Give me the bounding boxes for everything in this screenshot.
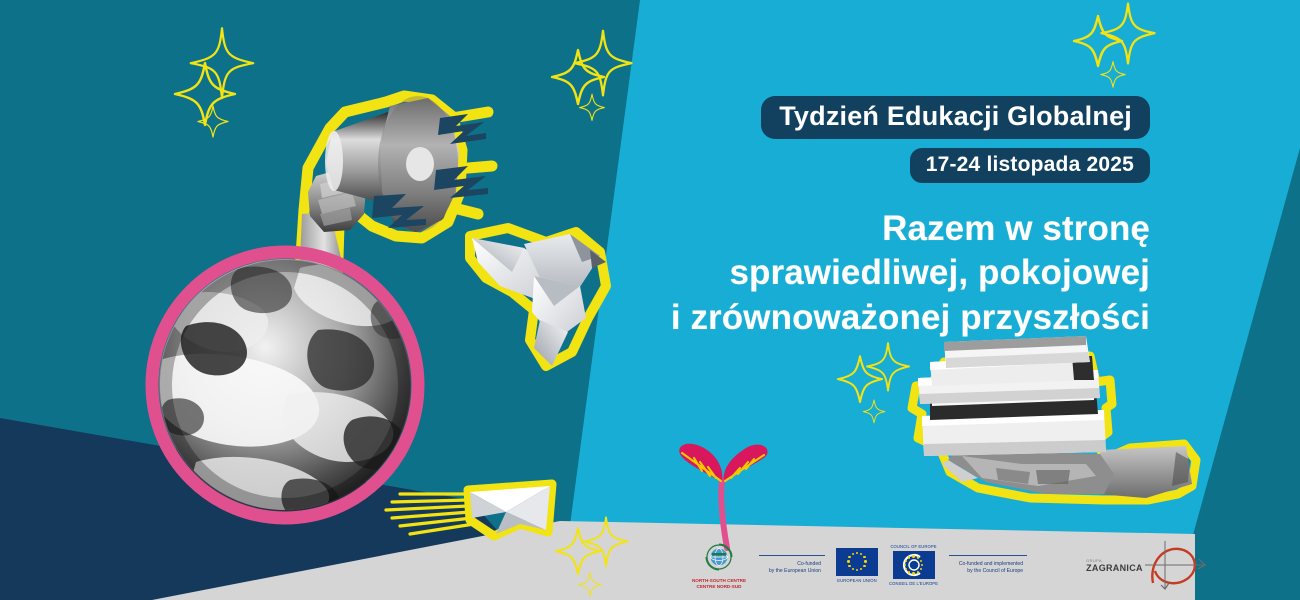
books-on-hand: [912, 336, 1196, 500]
speed-lines: [386, 494, 474, 534]
campaign-dates-pill: 17-24 listopada 2025: [910, 148, 1150, 183]
origami-dove: [470, 228, 606, 366]
campaign-banner: Tydzień Edukacji Globalnej 17-24 listopa…: [0, 0, 1300, 600]
slogan-line-2: sprawiedliwej, pokojowej: [590, 251, 1150, 295]
campaign-title-pill: Tydzień Edukacji Globalnej: [761, 96, 1150, 139]
slogan-line-3: i zrównoważonej przyszłości: [590, 296, 1150, 340]
plant-sprout: [679, 444, 767, 548]
paper-plane: [386, 484, 552, 536]
slogan-line-1: Razem w stronę: [590, 207, 1150, 251]
headline-block: Tydzień Edukacji Globalnej 17-24 listopa…: [590, 96, 1150, 340]
book-stack: [918, 336, 1106, 456]
globe: [150, 252, 418, 523]
campaign-slogan: Razem w stronę sprawiedliwej, pokojowej …: [590, 207, 1150, 340]
